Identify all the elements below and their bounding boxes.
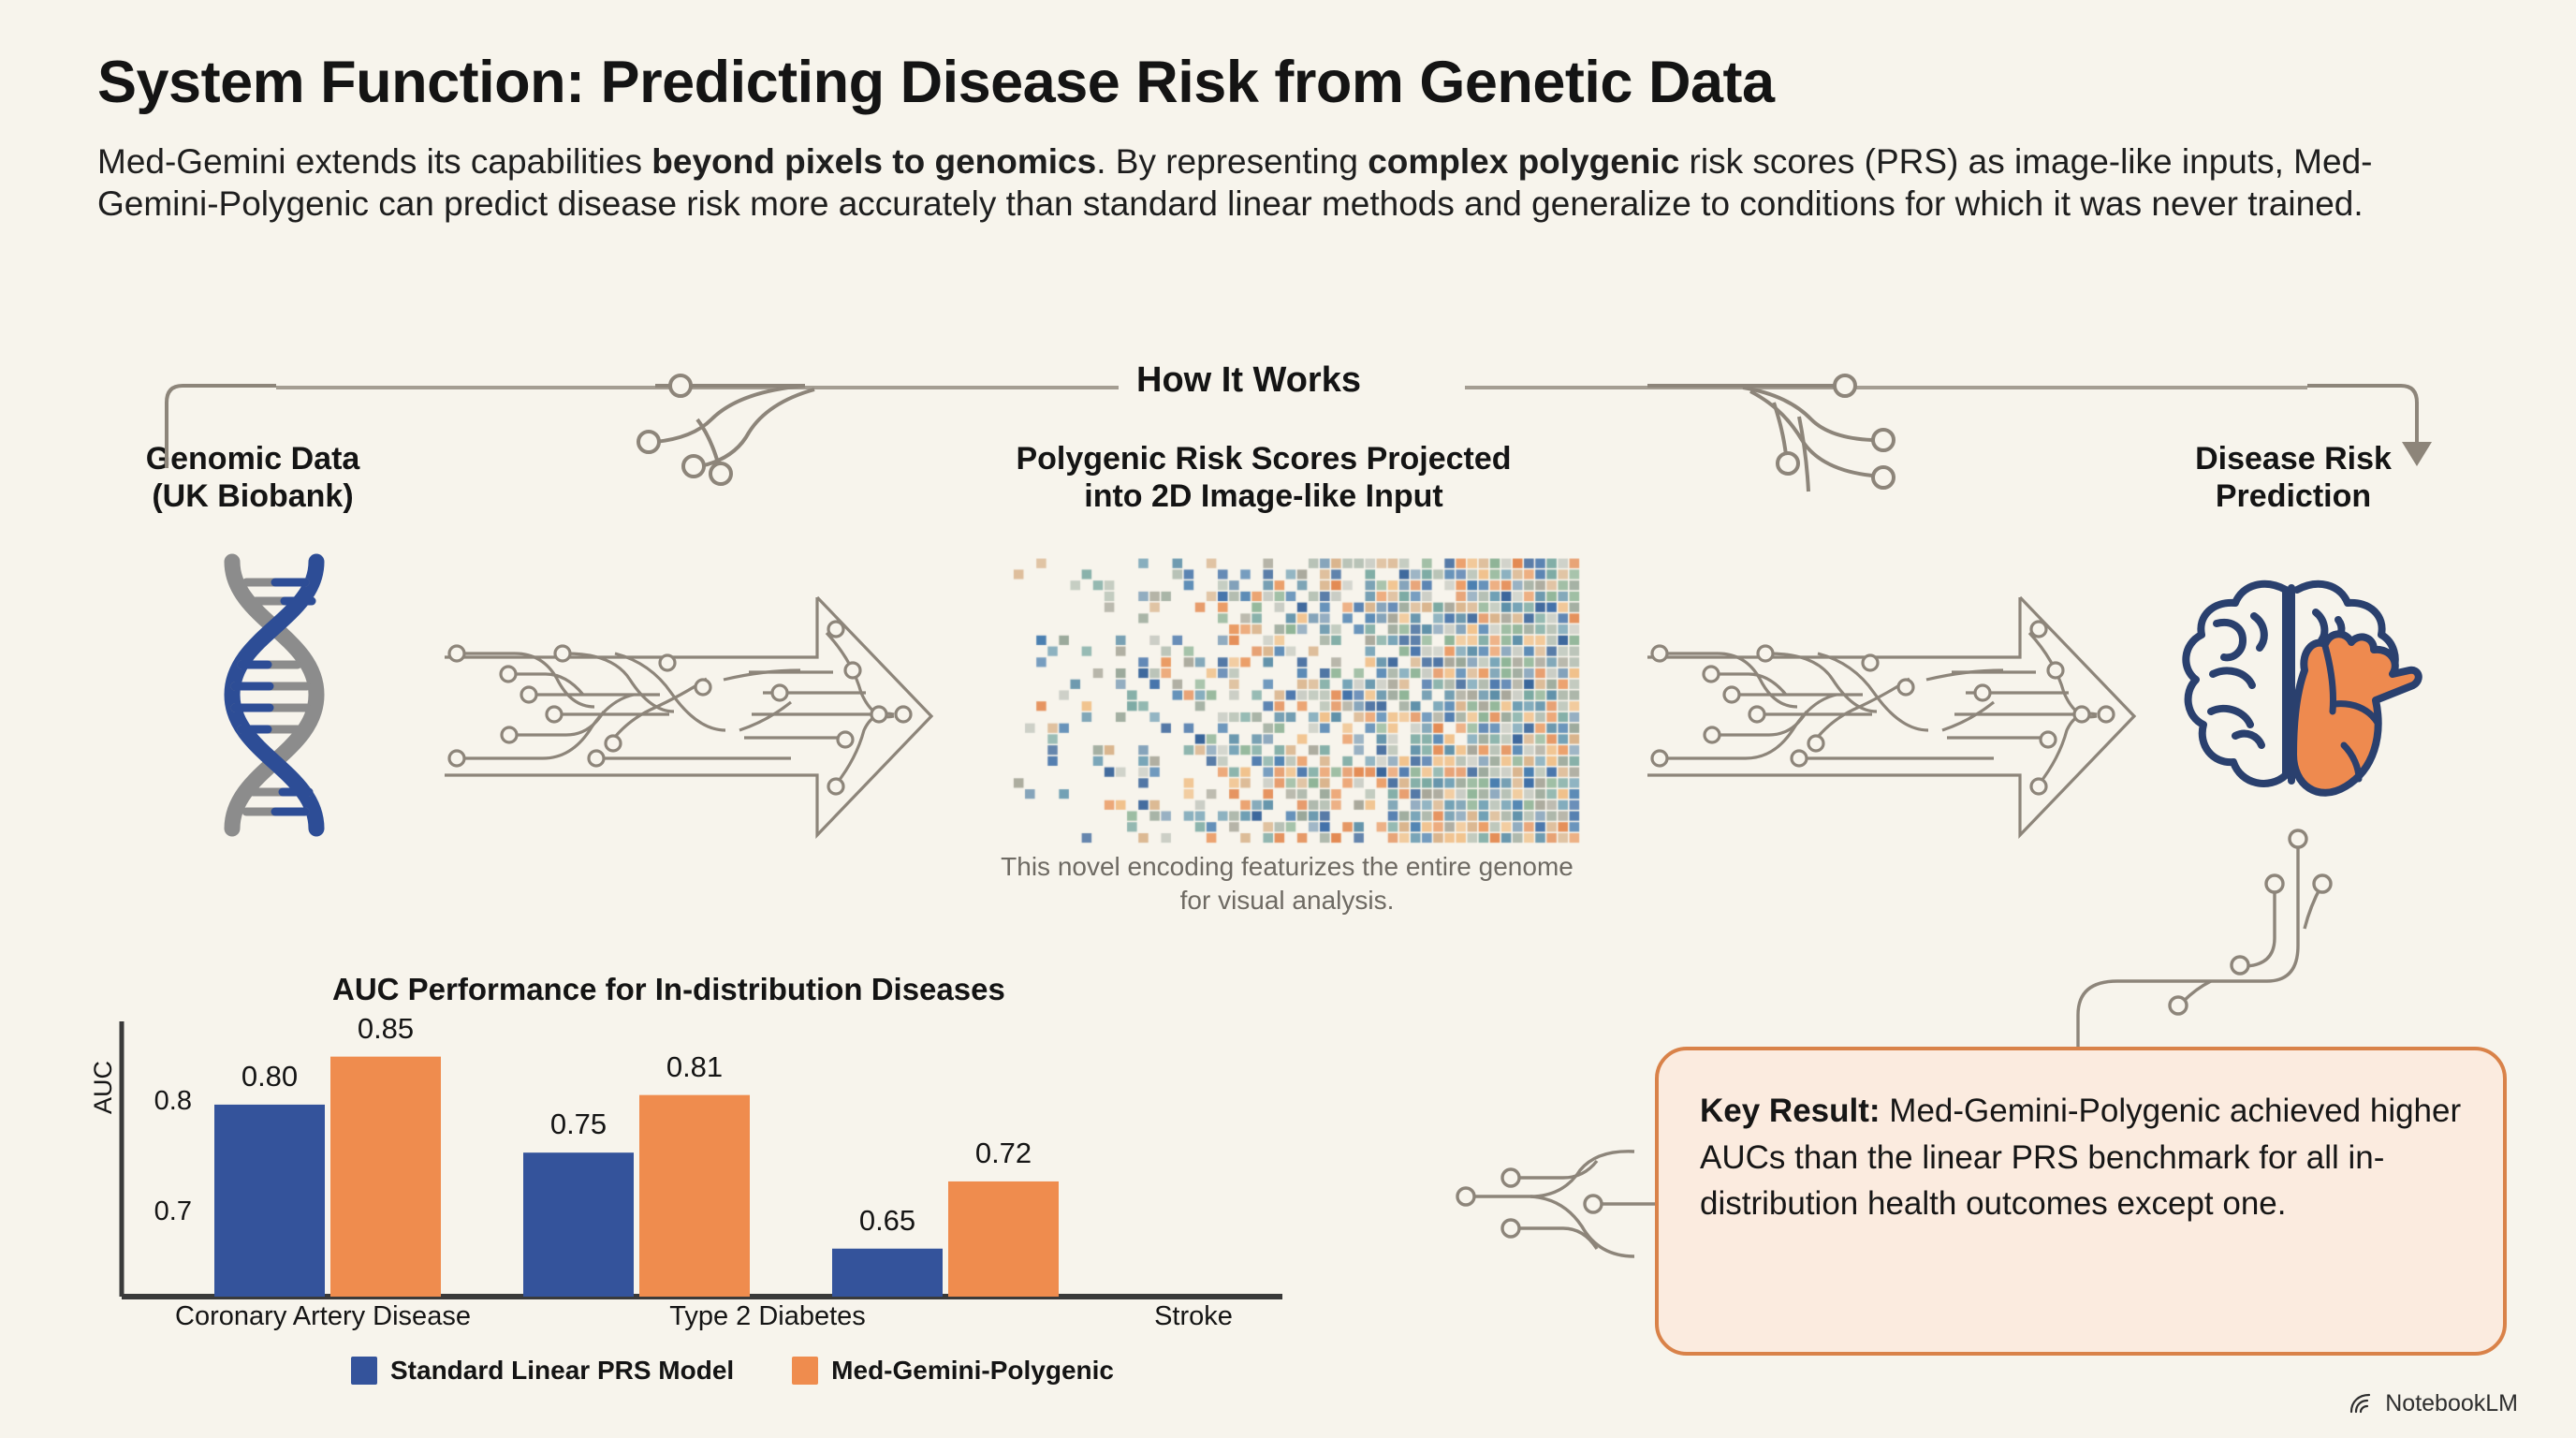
circuit-arrow-icon: [1629, 590, 2162, 843]
key-result-callout: Key Result: Med-Gemini-Polygenic achieve…: [1655, 1047, 2507, 1356]
legend-swatch-blue: [351, 1357, 377, 1385]
watermark-label: NotebookLM: [2385, 1390, 2518, 1417]
chart-category-label: Coronary Artery Disease: [112, 1301, 534, 1332]
page-title: System Function: Predicting Disease Risk…: [97, 49, 2344, 116]
how-it-works-label: How It Works: [1120, 360, 1378, 401]
legend-item-med-gemini-polygenic: Med-Gemini-Polygenic: [792, 1356, 1114, 1386]
bar-value-label: 0.85: [311, 1012, 461, 1046]
prs-pixel-grid: [990, 558, 1580, 844]
legend-swatch-orange: [792, 1357, 818, 1385]
bar-value-label: 0.65: [812, 1204, 962, 1238]
chart-title: AUC Performance for In-distribution Dise…: [332, 972, 1005, 1007]
chart-category-label: Type 2 Diabetes: [590, 1301, 945, 1332]
page-subtitle: Med-Gemini extends its capabilities beyo…: [97, 140, 2419, 225]
dna-helix-icon: [204, 552, 344, 838]
notebooklm-watermark: NotebookLM: [2348, 1390, 2518, 1417]
legend-label: Med-Gemini-Polygenic: [831, 1356, 1114, 1386]
legend-item-standard-linear-prs: Standard Linear PRS Model: [351, 1356, 734, 1386]
callout-connector-upper: [2012, 814, 2387, 1058]
bar-value-label: 0.81: [620, 1050, 769, 1084]
chart-category-label: Stroke: [1039, 1301, 1348, 1332]
bar-value-label: 0.72: [929, 1137, 1078, 1170]
prs-grid-caption: This novel encoding featurizes the entir…: [983, 850, 1591, 918]
notebooklm-logo-icon: [2348, 1391, 2374, 1417]
brain-heart-icon: [2160, 562, 2422, 824]
legend-label: Standard Linear PRS Model: [390, 1356, 734, 1386]
chart-legend: Standard Linear PRS Model Med-Gemini-Pol…: [351, 1356, 1114, 1386]
circuit-arrow-icon: [426, 590, 959, 843]
bar-value-label: 0.80: [195, 1060, 344, 1093]
bar-value-label: 0.75: [504, 1108, 653, 1141]
infographic-page: System Function: Predicting Disease Risk…: [0, 0, 2576, 1438]
